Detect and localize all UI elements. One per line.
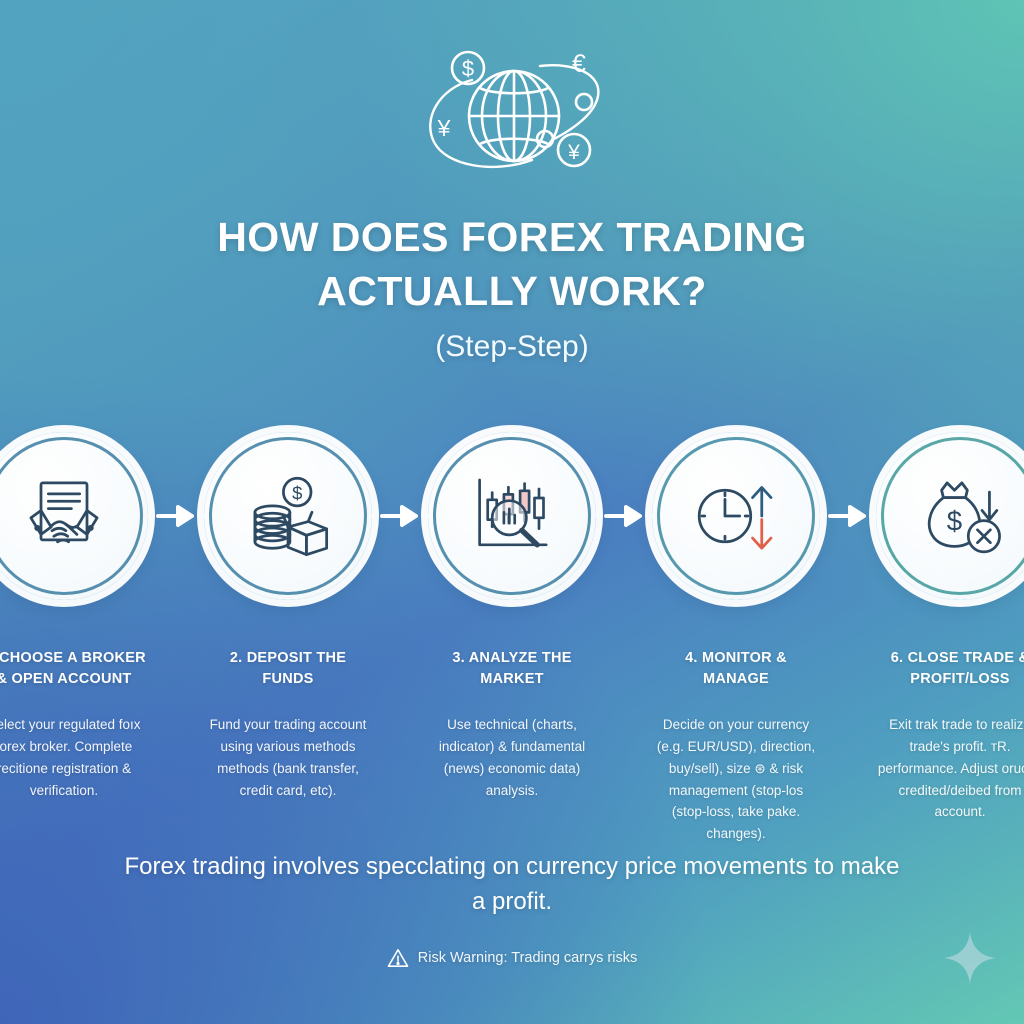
- coins-box-icon: $: [242, 470, 334, 562]
- caption-4-body: Decide on your currency (e.g. EUR/USD), …: [651, 714, 821, 845]
- risk-warning-row: Risk Warning: Trading carrys risks: [120, 948, 904, 968]
- step-4: [647, 432, 825, 600]
- caption-1-body: Select your regulated foıx forex broker.…: [0, 714, 149, 801]
- step-1-circle: [0, 432, 148, 600]
- caption-2-body: Fund your trading account using various …: [203, 714, 373, 801]
- svg-text:¥: ¥: [437, 115, 451, 141]
- svg-text:$: $: [462, 56, 474, 81]
- caption-5-title: 6. CLOSE TRADE & PROFIT/LOSS: [875, 648, 1024, 690]
- connector-1: [153, 504, 199, 528]
- risk-warning-text: Risk Warning: Trading carrys risks: [418, 950, 637, 966]
- step-4-circle: [652, 432, 820, 600]
- page-title: HOW DOES FOREX TRADING ACTUALLY WORK?: [70, 210, 954, 318]
- caption-5-body: Exit trak trade to realize trade's profi…: [875, 714, 1024, 823]
- svg-text:¥: ¥: [567, 141, 580, 164]
- caption-3-title: 3. ANALYZE THE MARKET: [427, 648, 597, 690]
- money-bag-down-arrow-close-icon: $: [914, 470, 1006, 562]
- step-5-circle: $: [876, 432, 1024, 600]
- caption-gap: [377, 648, 423, 845]
- step-3-circle: [428, 432, 596, 600]
- caption-1-title: 1. CHOOSE A BROKER & OPEN ACCOUNT: [0, 648, 149, 690]
- step-2: $: [199, 432, 377, 600]
- arrow-right-icon: [828, 504, 868, 528]
- connector-2: [377, 504, 423, 528]
- footer: Forex trading involves specclating on cu…: [0, 850, 1024, 968]
- footer-summary: Forex trading involves specclating on cu…: [120, 850, 904, 920]
- caption-1: 1. CHOOSE A BROKER & OPEN ACCOUNT Select…: [0, 648, 153, 845]
- caption-2: 2. DEPOSIT THE FUNDS Fund your trading a…: [199, 648, 377, 845]
- arrow-right-icon: [156, 504, 196, 528]
- svg-text:$: $: [292, 482, 302, 503]
- arrow-right-icon: [380, 504, 420, 528]
- svg-text:€: €: [572, 50, 586, 78]
- step-5: $: [871, 432, 1024, 600]
- caption-2-title: 2. DEPOSIT THE FUNDS: [203, 648, 373, 690]
- globe-currency-icon: $ € ¥ ¥: [412, 40, 612, 190]
- caption-gap: [825, 648, 871, 845]
- step-3: [423, 432, 601, 600]
- svg-text:$: $: [947, 506, 962, 537]
- step-2-circle: $: [204, 432, 372, 600]
- infographic-poster: $ € ¥ ¥ HOW DOES FOREX TRADING ACTUALLY …: [0, 0, 1024, 1024]
- connector-3: [601, 504, 647, 528]
- caption-3-body: Use technical (charts, indicator) & fund…: [427, 714, 597, 801]
- page-title-line2: ACTUALLY WORK?: [70, 264, 954, 318]
- caption-4: 4. MONITOR & MANAGE Decide on your curre…: [647, 648, 825, 845]
- page-title-line1: HOW DOES FOREX TRADING: [70, 210, 954, 264]
- handshake-document-icon: [18, 470, 110, 562]
- caption-3: 3. ANALYZE THE MARKET Use technical (cha…: [423, 648, 601, 845]
- clock-up-down-arrows-icon: [690, 470, 782, 562]
- title-block: HOW DOES FOREX TRADING ACTUALLY WORK? (S…: [0, 210, 1024, 364]
- arrow-right-icon: [604, 504, 644, 528]
- captions-row: 1. CHOOSE A BROKER & OPEN ACCOUNT Select…: [0, 648, 1024, 845]
- header-icon-wrap: $ € ¥ ¥: [0, 40, 1024, 190]
- caption-gap: [601, 648, 647, 845]
- step-1: [0, 432, 153, 600]
- caption-gap: [153, 648, 199, 845]
- caption-4-title: 4. MONITOR & MANAGE: [651, 648, 821, 690]
- candlestick-chart-magnifier-icon: [467, 471, 557, 561]
- page-subtitle: (Step-Step): [70, 330, 954, 364]
- caption-5: 6. CLOSE TRADE & PROFIT/LOSS Exit trak t…: [871, 648, 1024, 845]
- warning-triangle-icon: [387, 948, 409, 968]
- steps-row: $: [0, 432, 1024, 600]
- connector-4: [825, 504, 871, 528]
